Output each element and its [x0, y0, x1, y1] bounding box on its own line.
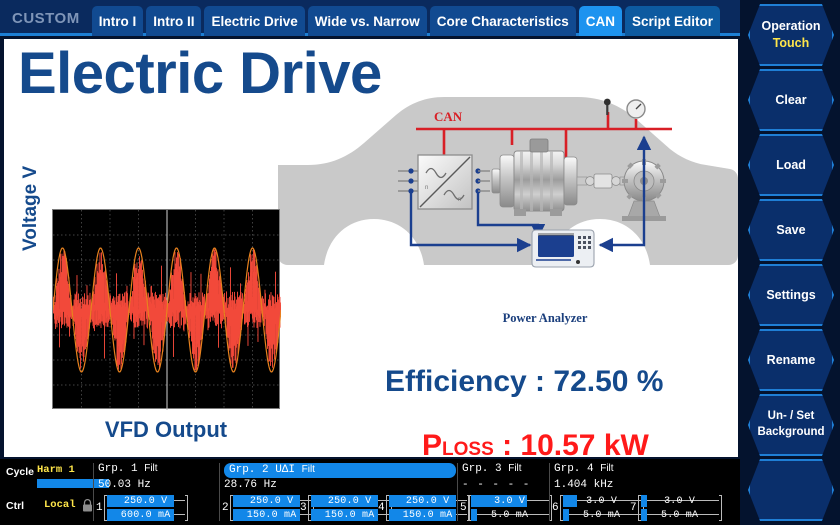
- status-group-3[interactable]: Grp. 3 Filt- - - - -53.0 V5.0 mA: [460, 459, 552, 525]
- status-group-frequency: 50.03 Hz: [98, 479, 151, 491]
- efficiency-readout: Efficiency : 72.50 %: [385, 365, 663, 399]
- status-channel-5[interactable]: 53.0 V5.0 mA: [460, 495, 552, 521]
- channel-number: 5: [460, 502, 467, 514]
- rail-button-load[interactable]: Load: [748, 134, 834, 196]
- rail-button-rename[interactable]: Rename: [748, 329, 834, 391]
- status-separator: [93, 463, 94, 521]
- status-channel-4[interactable]: 4250.0 V150.0 mA: [378, 495, 470, 521]
- channel-bar-stack: 250.0 V150.0 mA: [389, 495, 467, 521]
- channel-number: 2: [222, 502, 229, 514]
- status-group-2[interactable]: Grp. 2 UΔI Filt28.76 Hz2250.0 V150.0 mA3…: [222, 459, 460, 525]
- can-bus-label: CAN: [434, 109, 463, 124]
- channel-voltage-value: 250.0 V: [107, 495, 185, 507]
- powertrain-diagram: CAN n n: [378, 97, 678, 297]
- power-loss-readout: PLOSS : 10.57 kW: [422, 429, 649, 457]
- rail-button-un-set[interactable]: Un- / SetBackground: [748, 394, 834, 456]
- status-group-filter: Filt: [600, 463, 613, 474]
- status-group-4[interactable]: Grp. 4 Filt1.404 kHz63.0 V5.0 mA73.0 V5.…: [552, 459, 740, 525]
- channel-voltage-bar: 250.0 V: [311, 495, 389, 507]
- tab-intro-i[interactable]: Intro I: [92, 6, 144, 36]
- status-group-name: Grp. 4: [554, 463, 594, 475]
- status-group-name: Grp. 3: [462, 463, 502, 475]
- tab-wide-vs-narrow[interactable]: Wide vs. Narrow: [308, 6, 427, 36]
- channel-current-value: 150.0 mA: [389, 509, 467, 521]
- status-group-header: Grp. 2 UΔI Filt: [224, 463, 456, 478]
- status-group-filter: Filt: [302, 464, 315, 475]
- channel-current-value: 150.0 mA: [311, 509, 389, 521]
- scope-waveform: [53, 210, 281, 410]
- power-analyzer-label: Power Analyzer: [485, 311, 605, 326]
- channel-voltage-bar: 250.0 V: [389, 495, 467, 507]
- tab-script-editor[interactable]: Script Editor: [625, 6, 720, 36]
- rail-button-label: Load: [776, 157, 806, 174]
- side-button-rail: OperationTouchClearLoadSaveSettingsRenam…: [740, 0, 840, 525]
- status-channel-1[interactable]: 1250.0 V600.0 mA: [96, 495, 188, 521]
- channel-voltage-bar: 3.0 V: [471, 495, 549, 507]
- channel-number: 1: [96, 502, 103, 514]
- status-group-frequency: - - - - -: [462, 479, 530, 491]
- svg-text:n: n: [425, 185, 428, 191]
- rail-button-sublabel: Background: [757, 425, 824, 441]
- inverter-icon: n n: [418, 155, 472, 209]
- channel-bar-stack: 3.0 V5.0 mA: [641, 495, 719, 521]
- channel-bar-stack: 250.0 V150.0 mA: [233, 495, 311, 521]
- channel-voltage-value: 250.0 V: [311, 495, 389, 507]
- channel-number: 4: [378, 502, 385, 514]
- scope-y-axis-label: Voltage V: [20, 166, 42, 251]
- power-analyzer-icon: [532, 230, 594, 267]
- tab-intro-ii[interactable]: Intro II: [146, 6, 201, 36]
- rail-button-label: Operation: [761, 18, 820, 35]
- channel-number: 6: [552, 502, 559, 514]
- rail-button-settings[interactable]: Settings: [748, 264, 834, 326]
- tab-electric-drive[interactable]: Electric Drive: [204, 6, 304, 36]
- status-cycle-ctrl: Cycle Harm 1 Ctrl Local: [4, 459, 96, 525]
- channel-current-bar: 150.0 mA: [389, 509, 467, 521]
- svg-text:n: n: [458, 197, 461, 203]
- channel-voltage-bar: 3.0 V: [641, 495, 719, 507]
- waveform-display: Voltage V: [52, 209, 280, 409]
- ctrl-value[interactable]: Local: [44, 499, 76, 511]
- channel-current-bar: 150.0 mA: [233, 509, 311, 521]
- channel-bar-stack: 250.0 V600.0 mA: [107, 495, 185, 521]
- rail-button-label: Save: [776, 222, 805, 239]
- channel-voltage-value: 250.0 V: [389, 495, 467, 507]
- channel-voltage-value: 3.0 V: [641, 495, 719, 507]
- tab-label: Wide vs. Narrow: [315, 14, 420, 29]
- ploss-symbol: P: [422, 429, 442, 457]
- efficiency-label: Efficiency :: [385, 365, 553, 398]
- channel-bracket-right: [719, 495, 722, 521]
- status-separator: [549, 463, 550, 521]
- channel-current-value: 5.0 mA: [563, 509, 641, 521]
- channel-bar-stack: 3.0 V5.0 mA: [563, 495, 641, 521]
- tab-label: Intro II: [153, 14, 194, 29]
- channel-voltage-value: 3.0 V: [563, 495, 641, 507]
- status-group-header: Grp. 1 Filt: [98, 463, 158, 475]
- status-group-name: Grp. 1: [98, 463, 138, 475]
- channel-current-value: 150.0 mA: [233, 509, 311, 521]
- scope-grid: [52, 209, 280, 409]
- channel-bar-stack: 3.0 V5.0 mA: [471, 495, 549, 521]
- rail-button-label: Rename: [767, 352, 816, 369]
- status-group-name: Grp. 2 UΔI: [229, 464, 295, 476]
- application-window: CUSTOM Intro IIntro IIElectric DriveWide…: [0, 0, 840, 525]
- status-group-frequency: 1.404 kHz: [554, 479, 613, 491]
- ploss-subscript: LOSS: [442, 439, 494, 457]
- status-channel-7[interactable]: 73.0 V5.0 mA: [630, 495, 722, 521]
- channel-current-bar: 5.0 mA: [641, 509, 719, 521]
- ploss-separator: :: [494, 429, 521, 457]
- channel-number: 3: [300, 502, 307, 514]
- channel-number: 7: [630, 502, 637, 514]
- channel-current-value: 5.0 mA: [641, 509, 719, 521]
- channel-bracket-right: [185, 495, 188, 521]
- tab-label: Intro I: [99, 14, 137, 29]
- channel-current-bar: 600.0 mA: [107, 509, 185, 521]
- status-bar: Cycle Harm 1 Ctrl Local Grp. 1 Filt50.03…: [0, 459, 740, 525]
- cycle-value[interactable]: Harm 1: [37, 464, 75, 476]
- gauge-icon: [627, 100, 645, 118]
- rail-button-clear[interactable]: Clear: [748, 69, 834, 131]
- rail-button-sublabel: Touch: [773, 35, 810, 52]
- rail-button-label: Un- / Set: [768, 409, 815, 425]
- channel-current-value: 5.0 mA: [471, 509, 549, 521]
- tab-label: CAN: [586, 14, 615, 29]
- shaft-coupling-icon: [577, 174, 628, 188]
- status-group-filter: Filt: [508, 463, 521, 474]
- channel-voltage-bar: 3.0 V: [563, 495, 641, 507]
- channel-bar-stack: 250.0 V150.0 mA: [311, 495, 389, 521]
- sensor-pin-icon: [604, 99, 611, 115]
- channel-voltage-value: 3.0 V: [471, 495, 549, 507]
- ploss-value: 10.57 kW: [520, 429, 648, 457]
- status-group-header: Grp. 3 Filt: [462, 463, 522, 475]
- rail-button-blank[interactable]: [748, 459, 834, 521]
- tab-bar: CUSTOM Intro IIntro IIElectric DriveWide…: [0, 0, 740, 36]
- rail-button-operation[interactable]: OperationTouch: [748, 4, 834, 66]
- channel-voltage-bar: 250.0 V: [233, 495, 311, 507]
- content-canvas: Electric Drive: [4, 39, 738, 457]
- status-separator: [219, 463, 220, 521]
- rail-button-label: Settings: [766, 287, 815, 304]
- tab-label: Script Editor: [632, 14, 713, 29]
- tab-core-characteristics[interactable]: Core Characteristics: [430, 6, 576, 36]
- channel-voltage-value: 250.0 V: [233, 495, 311, 507]
- lock-icon: [82, 499, 93, 512]
- efficiency-value: 72.50 %: [553, 365, 663, 398]
- status-group-filter: Filt: [144, 463, 157, 474]
- scope-caption: VFD Output: [34, 417, 298, 443]
- channel-current-bar: 150.0 mA: [311, 509, 389, 521]
- channel-current-bar: 5.0 mA: [471, 509, 549, 521]
- tab-can[interactable]: CAN: [579, 6, 622, 36]
- channel-current-value: 600.0 mA: [107, 509, 185, 521]
- status-group-frequency: 28.76 Hz: [224, 479, 277, 491]
- rail-button-save[interactable]: Save: [748, 199, 834, 261]
- cycle-label: Cycle: [6, 466, 34, 478]
- tab-label: Electric Drive: [211, 14, 297, 29]
- status-group-header: Grp. 4 Filt: [554, 463, 614, 475]
- channel-current-bar: 5.0 mA: [563, 509, 641, 521]
- status-group-1[interactable]: Grp. 1 Filt50.03 Hz1250.0 V600.0 mA: [96, 459, 222, 525]
- channel-voltage-bar: 250.0 V: [107, 495, 185, 507]
- ctrl-label: Ctrl: [6, 500, 24, 512]
- electric-motor-icon: [492, 139, 577, 216]
- status-separator: [457, 463, 458, 521]
- tab-label: Core Characteristics: [437, 14, 569, 29]
- custom-label: CUSTOM: [6, 10, 92, 36]
- rail-button-label: Clear: [775, 92, 806, 109]
